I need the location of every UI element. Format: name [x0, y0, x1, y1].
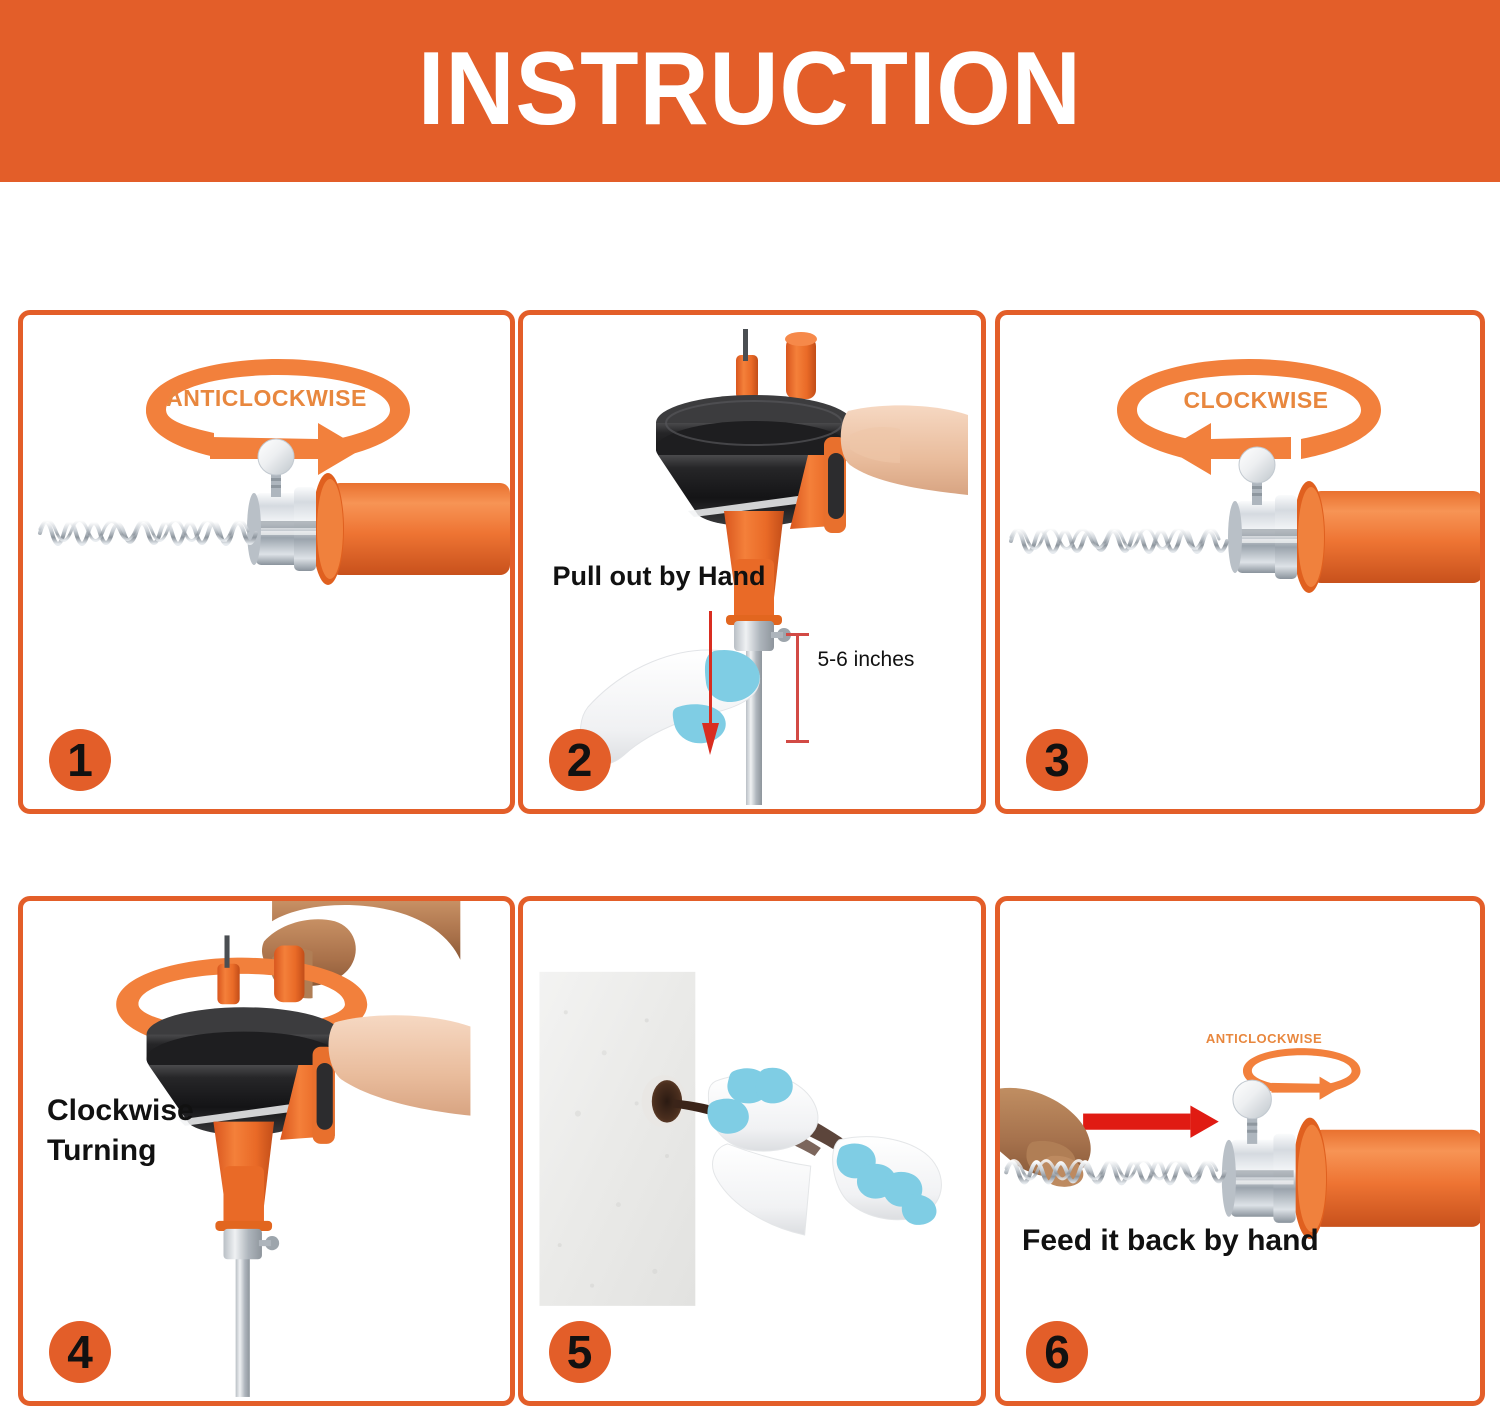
instruction-step-5: 5: [518, 896, 986, 1406]
drum-top-knobs: [736, 329, 817, 399]
step-1-badge: 1: [49, 729, 111, 791]
page-title: INSTRUCTION: [418, 37, 1082, 141]
step-2-badge: 2: [549, 729, 611, 791]
instruction-step-4: Clockwise Turning 4: [18, 896, 515, 1406]
orange-pipe: [312, 473, 510, 585]
feed-direction-arrow: [1083, 1105, 1219, 1137]
steel-rod: [223, 1229, 279, 1397]
instruction-step-grid: ANTICLOCKWISE 1: [18, 310, 1485, 1406]
instruction-step-3: CLOCKWISE 3: [995, 310, 1485, 814]
instruction-step-1: ANTICLOCKWISE 1: [18, 310, 515, 814]
chrome-chuck: [247, 487, 316, 571]
instruction-step-6: ANTICLOCKWISE Feed it back by hand 6: [995, 896, 1485, 1406]
step-2-dimension-label: 5-6 inches: [818, 648, 915, 672]
step-2-caption: Pull out by Hand: [553, 558, 766, 594]
wall-slab: [539, 972, 695, 1306]
step-3-badge: 3: [1026, 729, 1088, 791]
step-6-caption: Feed it back by hand: [1022, 1221, 1319, 1261]
right-hand: [840, 405, 967, 495]
right-hand: [328, 1015, 470, 1115]
gloved-hand-upper: [707, 1068, 817, 1235]
auger-cable: [1011, 528, 1227, 552]
step-6-badge: 6: [1026, 1321, 1088, 1383]
header-banner: INSTRUCTION: [0, 0, 1500, 182]
thumbscrew: [258, 439, 294, 497]
orange-pipe: [1293, 481, 1480, 593]
thumbscrew: [1239, 447, 1275, 505]
steel-rod: [734, 621, 791, 805]
auger-neck: [213, 1122, 274, 1231]
gloved-hand-lower: [832, 1137, 941, 1225]
step-4-caption: Clockwise Turning: [47, 1091, 194, 1171]
instruction-step-2: Pull out by Hand 5-6 inches 2: [518, 310, 986, 814]
dimension-bracket: [786, 633, 809, 743]
auger-cable: [40, 520, 256, 544]
step-5-badge: 5: [549, 1321, 611, 1383]
orange-pipe: [1293, 1118, 1480, 1239]
step-4-badge: 4: [49, 1321, 111, 1383]
chrome-chuck: [1228, 495, 1297, 579]
chrome-chuck: [1222, 1134, 1296, 1223]
thumbscrew: [1233, 1080, 1271, 1144]
